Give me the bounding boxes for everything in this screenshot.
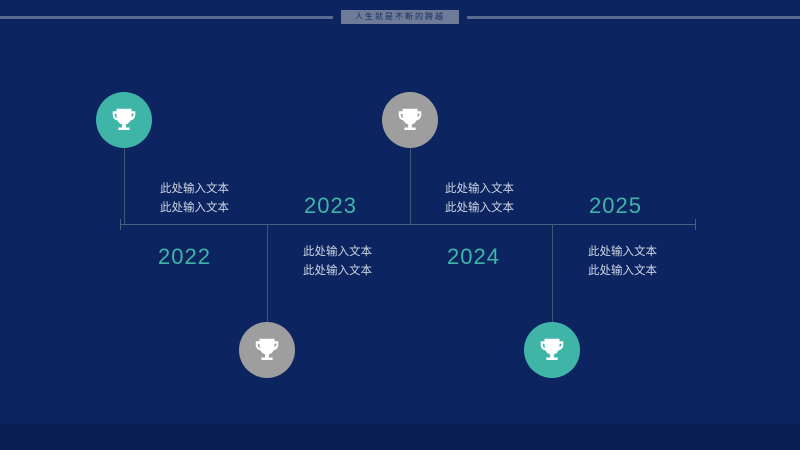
timeline-text-4-line-1: 此处输入文本 (588, 243, 657, 262)
bottom-decoration (0, 424, 800, 450)
timeline-node-3[interactable] (382, 92, 438, 148)
timeline-axis (120, 224, 696, 225)
timeline-stem-4 (552, 224, 553, 324)
timeline-text-4-line-2: 此处输入文本 (588, 262, 657, 281)
timeline-stem-2 (267, 224, 268, 324)
timeline-year-3: 2024 (447, 244, 500, 270)
timeline-text-1-line-2: 此处输入文本 (160, 199, 229, 218)
timeline-text-1-line-1: 此处输入文本 (160, 180, 229, 199)
timeline-text-4: 此处输入文本 此处输入文本 (588, 243, 657, 281)
timeline-year-4: 2025 (589, 193, 642, 219)
timeline-text-2-line-1: 此处输入文本 (303, 243, 372, 262)
timeline-axis-cap-left (120, 219, 121, 230)
timeline-text-3-line-2: 此处输入文本 (445, 199, 514, 218)
timeline-text-3: 此处输入文本 此处输入文本 (445, 180, 514, 218)
timeline-text-2-line-2: 此处输入文本 (303, 262, 372, 281)
timeline-stem-3 (410, 148, 411, 224)
timeline-node-4[interactable] (524, 322, 580, 378)
trophy-icon (395, 105, 425, 135)
timeline-year-1: 2022 (158, 244, 211, 270)
timeline-text-1: 此处输入文本 此处输入文本 (160, 180, 229, 218)
timeline-stem-1 (124, 148, 125, 224)
timeline-node-2[interactable] (239, 322, 295, 378)
timeline-stage: 2022 此处输入文本 此处输入文本 2023 此处输入文本 此处输入文本 20… (0, 0, 800, 450)
timeline-year-2: 2023 (304, 193, 357, 219)
timeline-text-2: 此处输入文本 此处输入文本 (303, 243, 372, 281)
trophy-icon (109, 105, 139, 135)
trophy-icon (252, 335, 282, 365)
timeline-text-3-line-1: 此处输入文本 (445, 180, 514, 199)
trophy-icon (537, 335, 567, 365)
timeline-axis-cap-right (695, 219, 696, 230)
timeline-node-1[interactable] (96, 92, 152, 148)
